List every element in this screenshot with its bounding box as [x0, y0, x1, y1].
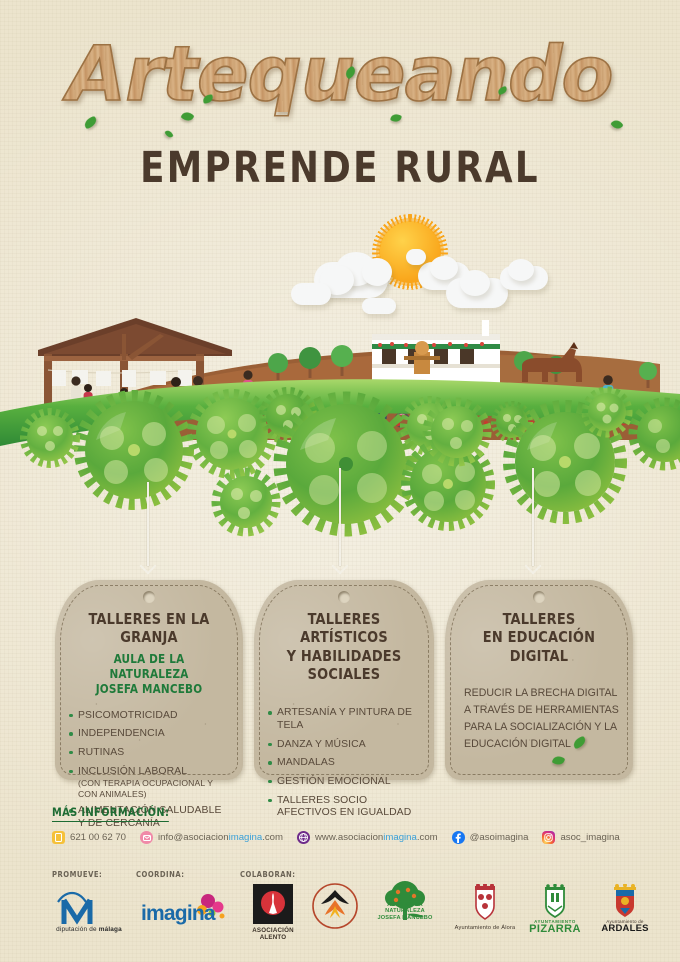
tag-hole-icon	[143, 591, 155, 603]
tag-hole-icon	[533, 591, 545, 603]
tag-hole-icon	[338, 591, 350, 603]
logo-ayuntamiento-de-ardales[interactable]: Ayuntamiento de ARDALES	[590, 884, 660, 934]
list-item: GESTIÓN EMOCIONAL	[267, 776, 421, 789]
list-item: INCLUSIÓN LABORAL (CON TERAPIA OCUPACION…	[68, 766, 230, 800]
cloud-icon	[430, 256, 458, 280]
contact-instagram[interactable]: asoc_imagina	[542, 831, 619, 844]
list-item: TALLERES SOCIO AFECTIVOS EN IGUALDAD	[267, 795, 421, 820]
card-subtitle-line1: AULA DE LA NATURALEZA	[109, 651, 188, 681]
logo-ave-fenix[interactable]	[306, 882, 364, 930]
workshop-cards: TALLERES EN LA GRANJA AULA DE LA NATURAL…	[55, 580, 633, 780]
web-suffix: .com	[417, 832, 438, 843]
logo-caption: diputación de málaga	[50, 926, 128, 933]
instagram-icon	[542, 831, 555, 844]
logo-imagina[interactable]: imagina	[140, 894, 232, 926]
list-item-text: RUTINAS	[78, 747, 124, 758]
footer-label-colaboran: COLABORAN:	[240, 870, 295, 879]
alora-crest	[470, 884, 500, 922]
card-title-line2: EN EDUCACIÓN DIGITAL	[483, 628, 595, 664]
list-item: DANZA Y MÚSICA	[267, 739, 421, 752]
email-suffix: .com	[262, 832, 283, 843]
pizarra-crest	[540, 884, 570, 918]
list-item-text: DANZA Y MÚSICA	[277, 739, 366, 750]
contact-instagram-value: asoc_imagina	[560, 832, 619, 843]
tag-string	[147, 482, 149, 566]
list-item-subtext: (CON TERAPIA OCUPACIONAL Y CON ANIMALES)	[78, 778, 230, 799]
alento-mark	[253, 884, 293, 924]
logo-diputacion-de-malaga[interactable]: diputación de málaga	[50, 886, 128, 933]
contact-web[interactable]: www.asociacionimagina.com	[297, 831, 438, 844]
footer-label-promueve: PROMUEVE:	[52, 870, 102, 879]
logo-caption: ARDALES	[590, 924, 660, 934]
cloud-icon	[362, 258, 392, 286]
logo-caption: PIZARRA	[520, 924, 590, 935]
contact-strip: 621 00 62 70 info@asociacionimagina.com …	[52, 831, 652, 844]
list-item: ARTESANÍA Y PINTURA DE TELA	[267, 707, 421, 732]
contact-facebook[interactable]: @asoimagina	[452, 831, 529, 844]
card-title: TALLERES EN LA GRANJA	[74, 610, 225, 647]
card-subtitle-line2: JOSEFA MANCEBO	[96, 681, 203, 696]
card-subtitle: AULA DE LA NATURALEZA JOSEFA MANCEBO	[74, 651, 225, 696]
list-item-text: INDEPENDENCIA	[78, 728, 165, 739]
logo-ayuntamiento-de-pizarra[interactable]: AYUNTAMIENTO PIZARRA	[520, 884, 590, 935]
logo-caption: ASOCIACIÓN ALENTO	[244, 927, 302, 941]
leaf-icon	[164, 129, 173, 139]
card-title-line1: TALLERES	[503, 610, 576, 628]
globe-icon	[297, 831, 310, 844]
fenix-mark	[311, 882, 359, 930]
logo-caption: AULA DE LA NATURALEZA JOSEFA MANCEBO	[366, 902, 444, 921]
poster-subtitle: EMPRENDE RURAL	[27, 143, 653, 193]
leaf-icon	[552, 754, 566, 767]
card-list: ARTESANÍA Y PINTURA DE TELA DANZA Y MÚSI…	[267, 707, 421, 820]
card-title-line1: TALLERES ARTÍSTICOS	[300, 610, 388, 646]
list-item-text: PSICOMOTRICIDAD	[78, 710, 178, 721]
list-item-text: MANDALAS	[277, 757, 335, 768]
poster-title-block: Artequeando	[0, 36, 680, 112]
facebook-icon	[452, 831, 465, 844]
list-item-text: GESTIÓN EMOCIONAL	[277, 776, 391, 787]
contact-phone[interactable]: 621 00 62 70	[52, 831, 126, 844]
footer-label-coordina: COORDINA:	[136, 870, 184, 879]
phone-icon	[52, 831, 65, 844]
logo-ayuntamiento-de-alora[interactable]: Ayuntamiento de Álora	[448, 884, 522, 931]
more-info-heading: MÁS INFORMACIÓN:	[52, 805, 169, 822]
card-paragraph: REDUCIR LA BRECHA DIGITAL A TRAVÉS DE HE…	[458, 685, 620, 754]
contact-web-value: www.asociacionimagina.com	[315, 832, 438, 843]
contact-phone-value: 621 00 62 70	[70, 832, 126, 843]
logo-asociacion-alento[interactable]: ASOCIACIÓN ALENTO	[244, 884, 302, 941]
contact-email-value: info@asociacionimagina.com	[158, 832, 283, 843]
workshop-card-artisticos[interactable]: TALLERES ARTÍSTICOS Y HABILIDADES SOCIAL…	[254, 580, 434, 780]
ardales-crest	[610, 884, 640, 918]
page-title: Artequeando	[59, 36, 620, 112]
poster-root: Artequeando EMPRENDE RURAL	[0, 0, 680, 962]
web-prefix: www.asociacion	[315, 832, 383, 843]
list-item: INDEPENDENCIA	[68, 728, 230, 741]
web-brand: imagina	[383, 832, 417, 843]
leaf-icon	[610, 118, 623, 131]
card-title-line2: Y HABILIDADES SOCIALES	[287, 647, 402, 683]
list-item-text: ARTESANÍA Y PINTURA DE TELA	[277, 707, 412, 731]
mail-icon	[140, 831, 153, 844]
email-brand: imagina	[229, 832, 263, 843]
card-title: TALLERES EN EDUCACIÓN DIGITAL	[464, 610, 615, 665]
card-title: TALLERES ARTÍSTICOS Y HABILIDADES SOCIAL…	[272, 610, 415, 683]
workshop-card-digital[interactable]: TALLERES EN EDUCACIÓN DIGITAL REDUCIR LA…	[445, 580, 633, 780]
logo-caption: Ayuntamiento de Álora	[448, 925, 522, 931]
list-item-text: INCLUSIÓN LABORAL	[78, 766, 187, 777]
contact-email[interactable]: info@asociacionimagina.com	[140, 831, 283, 844]
list-item: PSICOMOTRICIDAD	[68, 710, 230, 723]
logo-aula-naturaleza-josefa-mancebo[interactable]: AULA DE LA NATURALEZA JOSEFA MANCEBO	[366, 880, 444, 921]
diputacion-m-mark	[50, 886, 128, 928]
tag-string	[532, 468, 534, 566]
list-item: RUTINAS	[68, 747, 230, 760]
cloud-icon	[406, 249, 426, 265]
tag-string	[339, 468, 341, 566]
list-item-text: TALLERES SOCIO AFECTIVOS EN IGUALDAD	[277, 795, 411, 819]
footer-logos: PROMUEVE: COORDINA: COLABORAN: diputació…	[0, 866, 680, 962]
cloud-icon	[508, 259, 534, 281]
workshop-card-granja[interactable]: TALLERES EN LA GRANJA AULA DE LA NATURAL…	[55, 580, 243, 780]
list-item: MANDALAS	[267, 757, 421, 770]
contact-facebook-value: @asoimagina	[470, 832, 529, 843]
email-prefix: info@asociacion	[158, 832, 229, 843]
